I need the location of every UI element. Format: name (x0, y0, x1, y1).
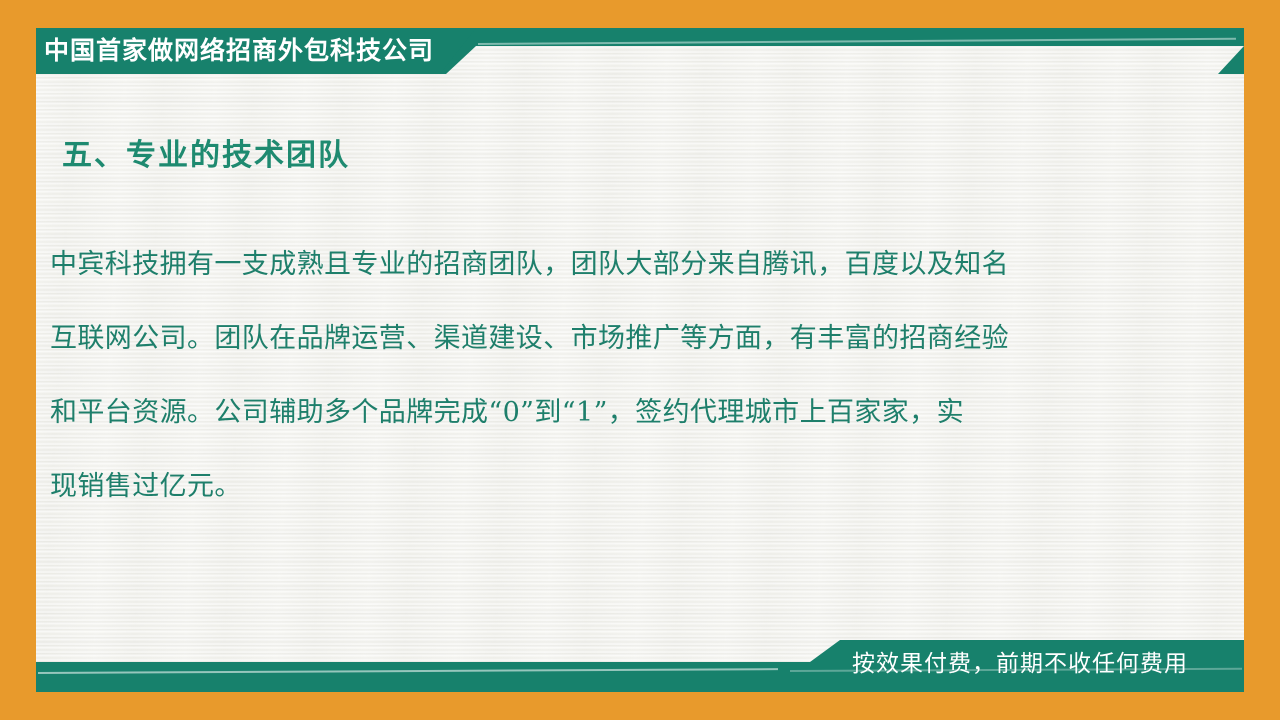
presentation-slide: 中国首家做网络招商外包科技公司 五、专业的技术团队 中宾科技拥有一支成熟且专业的… (0, 0, 1280, 720)
body-paragraph: 中宾科技拥有一支成熟且专业的招商团队，团队大部分来自腾讯，百度以及知名 互联网公… (50, 228, 1190, 524)
paragraph-line: 中宾科技拥有一支成熟且专业的招商团队，团队大部分来自腾讯，百度以及知名 (50, 228, 1190, 302)
paragraph-line: 现销售过亿元。 (50, 450, 1190, 524)
header-title: 中国首家做网络招商外包科技公司 (44, 34, 434, 68)
paragraph-line: 和平台资源。公司辅助多个品牌完成“0”到“1”，签约代理城市上百家家，实 (50, 376, 1190, 450)
section-heading: 五、专业的技术团队 (62, 136, 350, 176)
footer-tagline: 按效果付费，前期不收任何费用 (852, 646, 1188, 680)
paragraph-line: 互联网公司。团队在品牌运营、渠道建设、市场推广等方面，有丰富的招商经验 (50, 302, 1190, 376)
